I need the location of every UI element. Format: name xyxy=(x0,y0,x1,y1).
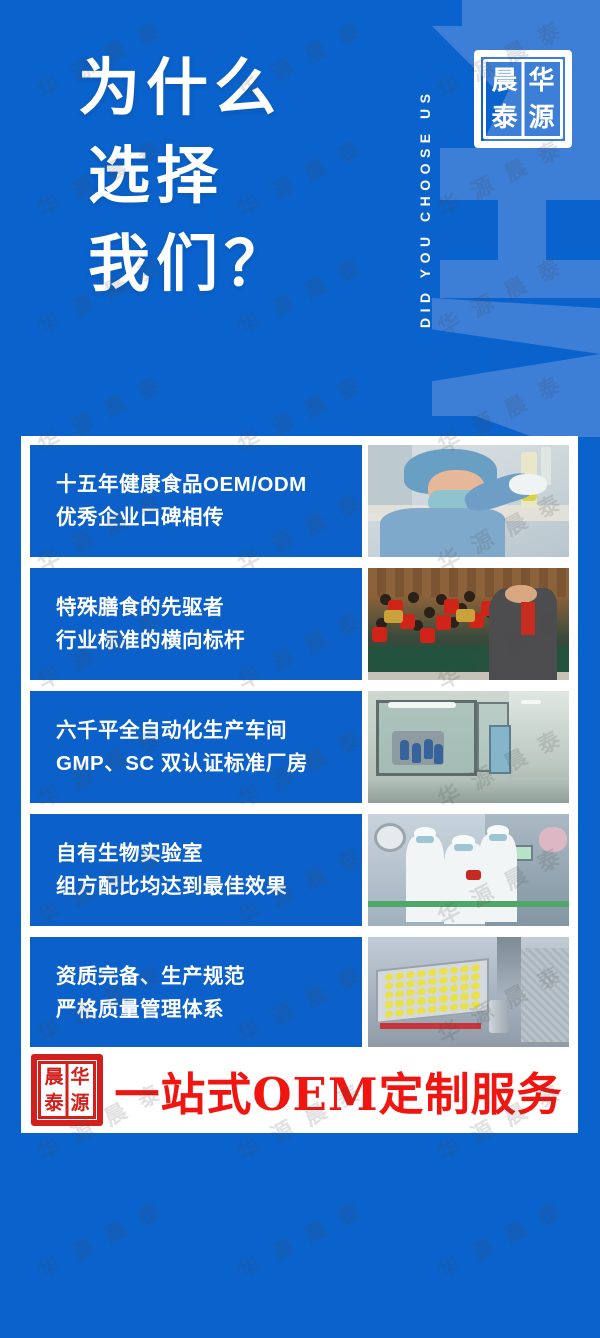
why-shape-7 xyxy=(432,298,600,354)
hero-title-line-2: 选择 xyxy=(88,132,292,220)
feature-photo-packing-line xyxy=(368,814,569,926)
seal-char-tai: 泰 xyxy=(486,99,523,136)
feature-line-1: 特殊膳食的先驱者 xyxy=(56,591,362,624)
feature-text-block: 自有生物实验室 组方配比均达到最佳效果 xyxy=(30,814,362,926)
feature-photo-cleanroom-corridor xyxy=(368,691,569,803)
seal-char-yuan: 源 xyxy=(523,99,560,136)
feature-line-1: 十五年健康食品OEM/ODM xyxy=(56,468,362,501)
feature-text-block: 资质完备、生产规范 严格质量管理体系 xyxy=(30,937,362,1049)
feature-text-block: 特殊膳食的先驱者 行业标准的横向标杆 xyxy=(30,568,362,680)
feature-line-2: 优秀企业口碑相传 xyxy=(56,501,362,534)
why-shape-9 xyxy=(432,416,600,437)
watermark-text: 华 源 晨 泰 xyxy=(184,1140,416,1338)
seal-divider xyxy=(522,59,525,139)
photo-illustration xyxy=(368,568,569,680)
footer-seal-logo: 华 源 晨 泰 xyxy=(31,1054,103,1126)
photo-illustration xyxy=(368,445,569,557)
footer-seal-char-yuan: 源 xyxy=(67,1090,93,1116)
feature-line-2: 行业标准的横向标杆 xyxy=(56,624,362,657)
feature-text-block: 十五年健康食品OEM/ODM 优秀企业口碑相传 xyxy=(30,445,362,557)
feature-photo-capsule-tray xyxy=(368,937,569,1049)
feature-photo-conference-audience xyxy=(368,568,569,680)
footer-seal-char-hua: 华 xyxy=(67,1064,93,1090)
hero-section: 为什么 选择 我们？ DID YOU CHOOSE US 华 源 晨 泰 xyxy=(0,0,600,437)
why-shape-1 xyxy=(462,0,600,26)
watermark-text: 华 源 晨 泰 xyxy=(384,1140,600,1338)
photo-illustration xyxy=(368,937,569,1049)
photo-illustration xyxy=(368,691,569,803)
feature-text-block: 六千平全自动化生产车间 GMP、SC 双认证标准厂房 xyxy=(30,691,362,803)
list-item[interactable]: 特殊膳食的先驱者 行业标准的横向标杆 xyxy=(30,568,569,680)
list-item[interactable]: 六千平全自动化生产车间 GMP、SC 双认证标准厂房 xyxy=(30,691,569,803)
feature-line-1: 资质完备、生产规范 xyxy=(56,960,362,993)
feature-line-2: 组方配比均达到最佳效果 xyxy=(56,870,362,903)
footer-slogan: 一站式OEM定制服务 xyxy=(99,1058,578,1123)
list-item[interactable]: 十五年健康食品OEM/ODM 优秀企业口碑相传 xyxy=(30,445,569,557)
feature-line-2: 严格质量管理体系 xyxy=(56,993,362,1026)
features-panel: 十五年健康食品OEM/ODM 优秀企业口碑相传 特殊膳食的先驱者 行业标准的横向… xyxy=(21,436,578,1133)
hero-title-line-1: 为什么 xyxy=(78,44,292,132)
brand-seal-logo: 华 源 晨 泰 xyxy=(474,50,572,148)
feature-photo-lab-technician xyxy=(368,445,569,557)
footer-banner: 华 源 晨 泰 一站式OEM定制服务 xyxy=(21,1047,578,1133)
feature-line-1: 六千平全自动化生产车间 xyxy=(56,714,362,747)
why-shape-4 xyxy=(440,148,600,200)
hero-title-line-3: 我们？ xyxy=(88,220,292,308)
footer-seal-char-chen: 晨 xyxy=(41,1064,67,1090)
why-shape-6 xyxy=(440,260,600,298)
photo-illustration xyxy=(368,814,569,926)
footer-seal-char-tai: 泰 xyxy=(41,1090,67,1116)
seal-char-chen: 晨 xyxy=(486,62,523,99)
list-item[interactable]: 资质完备、生产规范 严格质量管理体系 xyxy=(30,937,569,1049)
hero-vertical-subtitle: DID YOU CHOOSE US xyxy=(410,12,440,404)
list-item[interactable]: 自有生物实验室 组方配比均达到最佳效果 xyxy=(30,814,569,926)
hero-title: 为什么 选择 我们？ xyxy=(78,44,292,308)
feature-line-2: GMP、SC 双认证标准厂房 xyxy=(56,747,362,780)
footer-seal-divider xyxy=(66,1061,69,1119)
why-shape-5 xyxy=(498,200,546,260)
why-shape-8 xyxy=(432,354,600,416)
seal-char-hua: 华 xyxy=(523,62,560,99)
watermark-text: 华 源 晨 泰 xyxy=(0,1140,216,1338)
feature-line-1: 自有生物实验室 xyxy=(56,837,362,870)
features-list: 十五年健康食品OEM/ODM 优秀企业口碑相传 特殊膳食的先驱者 行业标准的横向… xyxy=(30,445,569,1049)
